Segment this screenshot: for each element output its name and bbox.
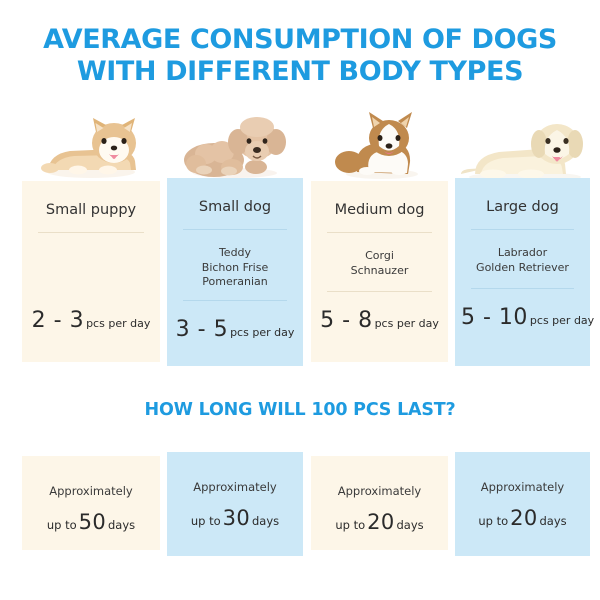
shiba-puppy-lying-icon <box>30 110 152 180</box>
card-body: Small puppy 2 - 3pcs per day <box>22 181 160 362</box>
amount-unit: pcs per day <box>530 314 594 327</box>
card-heading: Small dog <box>173 198 297 216</box>
divider <box>183 300 287 301</box>
amount-quantity: 2 - 3 <box>32 308 84 333</box>
approx-label: Approximately <box>311 484 448 499</box>
duration-card-small-puppy: Approximately up to50days <box>22 456 160 550</box>
breed-list: Teddy Bichon Frise Pomeranian <box>173 230 297 290</box>
breed-item: Schnauzer <box>317 264 442 279</box>
duration-prefix: up to <box>191 514 221 528</box>
duration-prefix: up to <box>478 514 508 528</box>
approx-label: Approximately <box>22 484 160 499</box>
duration-unit: days <box>539 514 566 528</box>
duration-prefix: up to <box>335 518 365 532</box>
duration-unit: days <box>252 514 279 528</box>
duration-value: up to20days <box>455 506 590 530</box>
amount-quantity: 5 - 10 <box>461 305 528 330</box>
amount-quantity: 5 - 8 <box>320 308 372 333</box>
breed-list <box>28 233 154 281</box>
breed-item: Bichon Frise <box>173 261 297 276</box>
duration-number: 30 <box>223 506 250 530</box>
duration-number: 50 <box>79 510 106 534</box>
breed-item: Pomeranian <box>173 275 297 290</box>
duration-prefix: up to <box>47 518 77 532</box>
breed-item: Teddy <box>173 246 297 261</box>
amount-unit: pcs per day <box>375 317 439 330</box>
duration-unit: days <box>396 518 423 532</box>
breed-item: Golden Retriever <box>461 261 584 276</box>
duration-card-large-dog: Approximately up to20days <box>455 452 590 556</box>
duration-value: up to20days <box>311 510 448 534</box>
card-body: Medium dog Corgi Schnauzer 5 - 8pcs per … <box>311 181 448 362</box>
approx-label: Approximately <box>167 480 303 495</box>
daily-amount: 3 - 5pcs per day <box>173 317 297 342</box>
dog-size-card-medium-dog: Medium dog Corgi Schnauzer 5 - 8pcs per … <box>311 110 448 372</box>
card-heading: Large dog <box>461 198 584 216</box>
duration-card-small-dog: Approximately up to30days <box>167 452 303 556</box>
approx-label: Approximately <box>455 480 590 495</box>
page-title: AVERAGE CONSUMPTION OF DOGS WITH DIFFERE… <box>0 24 600 88</box>
dog-size-card-small-puppy: Small puppy 2 - 3pcs per day <box>22 110 160 372</box>
card-body: Small dog Teddy Bichon Frise Pomeranian … <box>167 178 303 366</box>
dog-size-card-small-dog: Small dog Teddy Bichon Frise Pomeranian … <box>167 110 303 372</box>
amount-quantity: 3 - 5 <box>176 317 228 342</box>
duration-card-row: Approximately up to50days Approximately … <box>0 450 600 560</box>
duration-card-medium-dog: Approximately up to20days <box>311 456 448 550</box>
duration-number: 20 <box>367 510 394 534</box>
duration-unit: days <box>108 518 135 532</box>
daily-amount: 5 - 10pcs per day <box>461 305 584 330</box>
section-subheading: HOW LONG WILL 100 PCS LAST? <box>0 400 600 420</box>
dog-size-card-large-dog: Large dog Labrador Golden Retriever 5 - … <box>455 110 590 372</box>
duration-number: 20 <box>510 506 537 530</box>
breed-list: Labrador Golden Retriever <box>461 230 584 278</box>
daily-amount: 5 - 8pcs per day <box>317 308 442 333</box>
card-heading: Small puppy <box>28 201 154 219</box>
amount-unit: pcs per day <box>230 326 294 339</box>
breed-list: Corgi Schnauzer <box>317 233 442 281</box>
daily-amount: 2 - 3pcs per day <box>28 308 154 333</box>
labrador-lying-icon <box>455 114 591 184</box>
divider <box>471 288 574 289</box>
amount-unit: pcs per day <box>86 317 150 330</box>
corgi-sitting-icon <box>319 110 441 180</box>
duration-value: up to50days <box>22 510 160 534</box>
divider <box>327 291 432 292</box>
card-heading: Medium dog <box>317 201 442 219</box>
poodle-lying-icon <box>174 110 296 180</box>
dog-size-card-row: Small puppy 2 - 3pcs per day <box>0 110 600 372</box>
title-line-1: AVERAGE CONSUMPTION OF DOGS <box>0 24 600 56</box>
title-line-2: WITH DIFFERENT BODY TYPES <box>0 56 600 88</box>
breed-item: Labrador <box>461 246 584 261</box>
card-body: Large dog Labrador Golden Retriever 5 - … <box>455 178 590 366</box>
breed-item: Corgi <box>317 249 442 264</box>
duration-value: up to30days <box>167 506 303 530</box>
